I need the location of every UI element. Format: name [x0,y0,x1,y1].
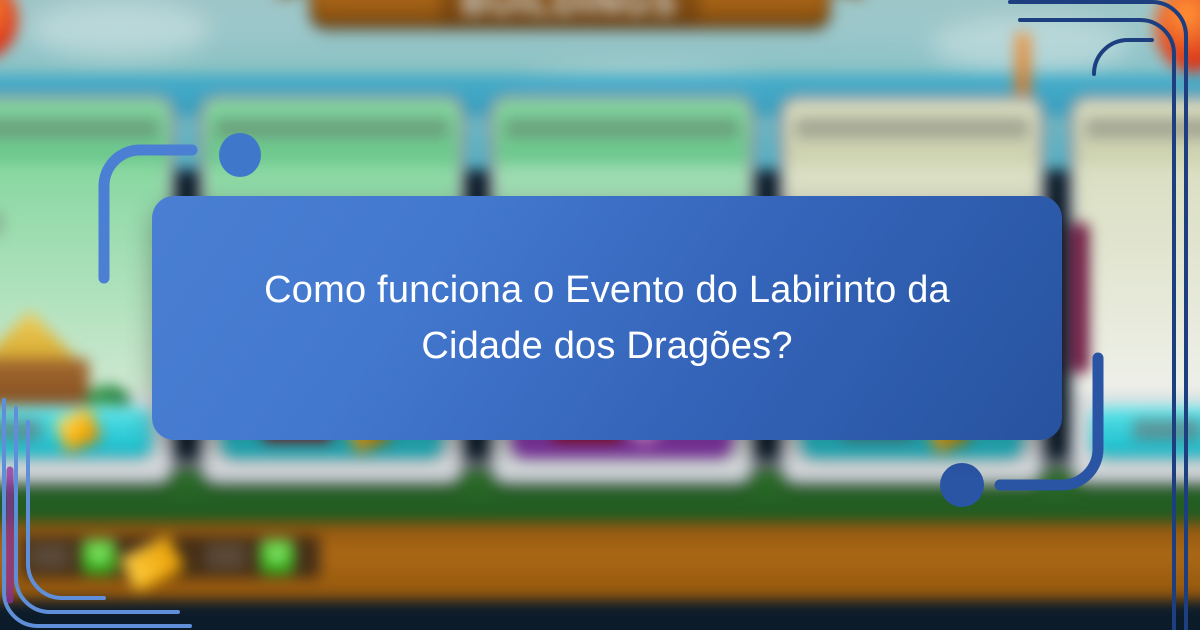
hotbar-slot[interactable] [30,543,70,569]
tile-sub-placeholder [0,211,3,237]
hotbar-add-button[interactable] [260,540,294,574]
hotbar-slot[interactable] [206,543,246,569]
banner-plate: BUILDINGS [440,0,700,26]
tile-header [1075,101,1200,163]
gold-coin-icon [54,407,102,453]
buildings-banner: BUILDINGS [310,0,830,28]
banner-title: BUILDINGS [462,0,678,24]
hut-base [0,359,89,411]
accent-dot-top [219,133,261,177]
tile-name-placeholder [505,117,739,139]
title-card: Como funciona o Evento do Labirinto da C… [152,196,1062,440]
accent-dot-bottom [940,463,984,507]
building-tile[interactable] [1068,94,1200,486]
tile-artwork [1075,163,1200,393]
tile-name-placeholder [1085,117,1200,139]
building-tile[interactable] [0,94,176,486]
tile-price-button[interactable] [0,405,153,457]
tile-header [495,101,749,163]
tile-artwork [0,163,169,393]
building-art [1071,223,1089,373]
tile-name-placeholder [0,117,159,139]
hotbar-add-button[interactable] [82,540,116,574]
tile-name-placeholder [795,117,1029,139]
tile-price-value [1133,419,1200,441]
tile-price-value [0,419,41,441]
tile-header [0,101,169,163]
thumbnail-canvas: BUILDINGS [0,0,1200,630]
tile-header [785,101,1039,163]
tile-price-button[interactable] [1091,405,1200,457]
page-title: Como funciona o Evento do Labirinto da C… [210,262,1004,374]
tower-prop [1015,32,1031,102]
cloud [30,0,210,60]
